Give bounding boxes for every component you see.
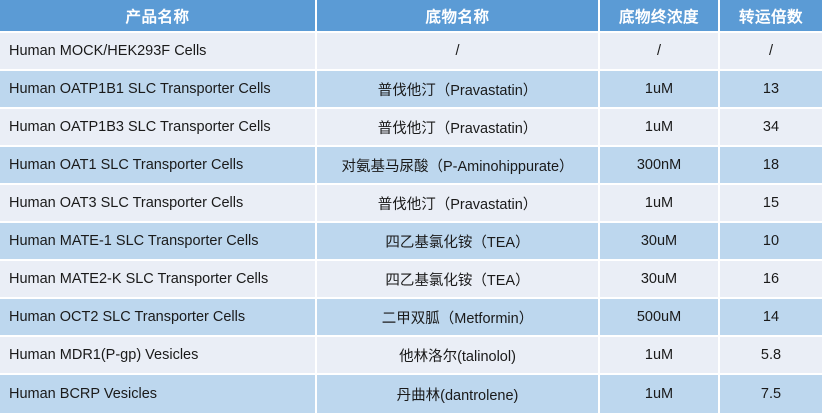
cell-fold: 16 — [720, 261, 822, 299]
cell-concentration: 1uM — [600, 337, 720, 375]
cell-product: Human OATP1B3 SLC Transporter Cells — [0, 109, 317, 147]
column-header-concentration: 底物终浓度 — [600, 0, 720, 33]
cell-fold: 5.8 — [720, 337, 822, 375]
cell-substrate: 四乙基氯化铵（TEA） — [317, 223, 600, 261]
cell-fold: 14 — [720, 299, 822, 337]
column-header-substrate: 底物名称 — [317, 0, 600, 33]
cell-product: Human MDR1(P-gp) Vesicles — [0, 337, 317, 375]
cell-substrate: 对氨基马尿酸（P-Aminohippurate） — [317, 147, 600, 185]
cell-substrate: 普伐他汀（Pravastatin） — [317, 109, 600, 147]
table-row: Human MDR1(P-gp) Vesicles 他林洛尔(talinolol… — [0, 337, 822, 375]
cell-concentration: 1uM — [600, 375, 720, 413]
cell-concentration: 1uM — [600, 185, 720, 223]
cell-fold: 7.5 — [720, 375, 822, 413]
table-row: Human OATP1B1 SLC Transporter Cells 普伐他汀… — [0, 71, 822, 109]
cell-product: Human OAT1 SLC Transporter Cells — [0, 147, 317, 185]
cell-substrate: 四乙基氯化铵（TEA） — [317, 261, 600, 299]
cell-substrate: 普伐他汀（Pravastatin） — [317, 71, 600, 109]
cell-product: Human MOCK/HEK293F Cells — [0, 33, 317, 71]
table-body: Human MOCK/HEK293F Cells / / / Human OAT… — [0, 33, 822, 413]
cell-substrate: 丹曲林(dantrolene) — [317, 375, 600, 413]
table-row: Human OATP1B3 SLC Transporter Cells 普伐他汀… — [0, 109, 822, 147]
table-header: 产品名称 底物名称 底物终浓度 转运倍数 — [0, 0, 822, 33]
table-row: Human MOCK/HEK293F Cells / / / — [0, 33, 822, 71]
cell-concentration: 300nM — [600, 147, 720, 185]
cell-product: Human OAT3 SLC Transporter Cells — [0, 185, 317, 223]
cell-product: Human BCRP Vesicles — [0, 375, 317, 413]
cell-concentration: / — [600, 33, 720, 71]
cell-concentration: 30uM — [600, 261, 720, 299]
cell-substrate: 二甲双胍（Metformin） — [317, 299, 600, 337]
table-row: Human OAT1 SLC Transporter Cells 对氨基马尿酸（… — [0, 147, 822, 185]
column-header-product: 产品名称 — [0, 0, 317, 33]
cell-fold: / — [720, 33, 822, 71]
cell-product: Human MATE2-K SLC Transporter Cells — [0, 261, 317, 299]
cell-product: Human OATP1B1 SLC Transporter Cells — [0, 71, 317, 109]
table-row: Human MATE-1 SLC Transporter Cells 四乙基氯化… — [0, 223, 822, 261]
table-row: Human BCRP Vesicles 丹曲林(dantrolene) 1uM … — [0, 375, 822, 413]
cell-concentration: 500uM — [600, 299, 720, 337]
transporter-table-container: 产品名称 底物名称 底物终浓度 转运倍数 Human MOCK/HEK293F … — [0, 0, 822, 412]
transporter-assay-table: 产品名称 底物名称 底物终浓度 转运倍数 Human MOCK/HEK293F … — [0, 0, 822, 413]
cell-fold: 10 — [720, 223, 822, 261]
table-row: Human OAT3 SLC Transporter Cells 普伐他汀（Pr… — [0, 185, 822, 223]
cell-concentration: 1uM — [600, 109, 720, 147]
cell-product: Human OCT2 SLC Transporter Cells — [0, 299, 317, 337]
table-header-row: 产品名称 底物名称 底物终浓度 转运倍数 — [0, 0, 822, 33]
cell-fold: 34 — [720, 109, 822, 147]
cell-fold: 13 — [720, 71, 822, 109]
cell-fold: 18 — [720, 147, 822, 185]
cell-substrate: / — [317, 33, 600, 71]
cell-concentration: 1uM — [600, 71, 720, 109]
table-row: Human OCT2 SLC Transporter Cells 二甲双胍（Me… — [0, 299, 822, 337]
cell-substrate: 普伐他汀（Pravastatin） — [317, 185, 600, 223]
column-header-fold: 转运倍数 — [720, 0, 822, 33]
cell-substrate: 他林洛尔(talinolol) — [317, 337, 600, 375]
cell-concentration: 30uM — [600, 223, 720, 261]
cell-product: Human MATE-1 SLC Transporter Cells — [0, 223, 317, 261]
cell-fold: 15 — [720, 185, 822, 223]
table-row: Human MATE2-K SLC Transporter Cells 四乙基氯… — [0, 261, 822, 299]
